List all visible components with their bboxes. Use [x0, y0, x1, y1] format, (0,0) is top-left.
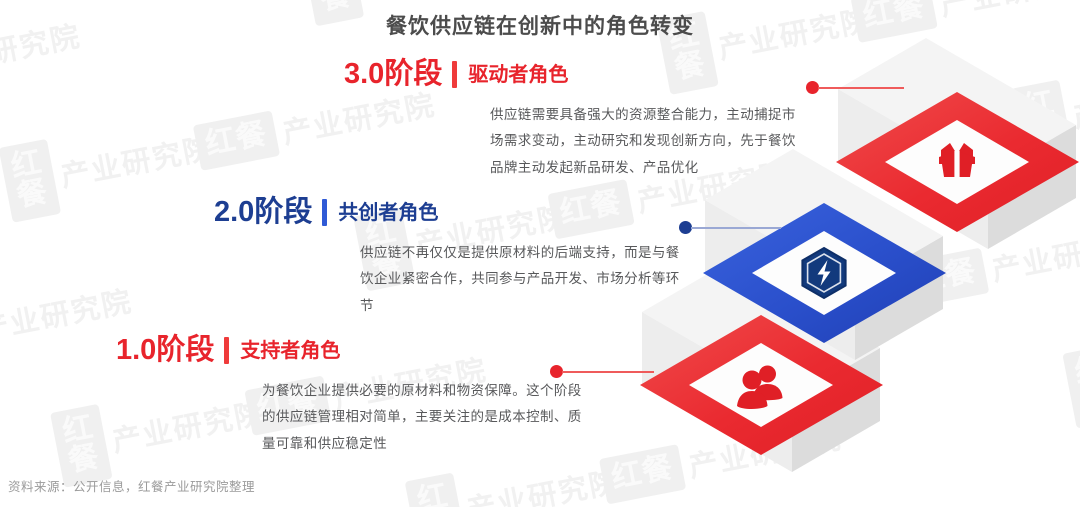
watermark-text: 产业研究院	[1069, 65, 1080, 136]
stage-2-role: 共创者角色	[338, 203, 438, 223]
infographic-canvas: 红餐 产业研究院 红餐 产业研究院 红餐 产业研究院 红餐 产业研究院 红餐 产…	[0, 0, 1080, 507]
connector-line	[818, 87, 904, 89]
stage-1-heading: 1.0阶段 支持者角色	[116, 336, 582, 365]
step2-diamond-outer	[703, 203, 946, 343]
watermark-tile: 红餐 产业研究院	[863, 48, 1080, 191]
watermark-badge: 红餐	[599, 444, 686, 504]
stage-3-heading: 3.0阶段 驱动者角色	[344, 60, 806, 89]
step3-left-face	[838, 89, 988, 249]
watermark-badge: 红餐	[1062, 344, 1080, 428]
stage-block-3: 3.0阶段 驱动者角色 供应链需要具备强大的资源整合能力，主动捕捉市场需求变动，…	[344, 60, 806, 181]
stage-3-role: 驱动者角色	[468, 65, 568, 85]
step3-top-face	[838, 38, 1076, 176]
watermark-badge: 红餐	[193, 110, 280, 170]
stage-3-divider-bar	[452, 61, 457, 88]
step1-diamond-inner	[689, 343, 833, 427]
watermark-tile: 红餐 产业研究院	[0, 107, 220, 250]
watermark-badge: 红餐	[50, 403, 113, 487]
stage-1-number: 1.0阶段	[116, 336, 214, 365]
step1-diamond-outer	[640, 315, 883, 455]
shield-bolt-icon	[802, 248, 845, 298]
watermark-badge: 红餐	[405, 472, 468, 507]
stage-1-divider-bar	[224, 337, 229, 364]
stage-2-divider-bar	[322, 199, 327, 226]
stage-block-2: 2.0阶段 共创者角色 供应链不再仅仅是提供原材料的后端支持，而是与餐饮企业紧密…	[214, 198, 682, 319]
step2-right-face	[855, 236, 943, 360]
step3-diamond-outer	[836, 92, 1079, 232]
connector-line	[691, 227, 781, 229]
watermark-text: 产业研究院	[988, 218, 1080, 289]
watermark-tile: 红餐 产业研究院	[944, 481, 1080, 507]
watermark-badge: 红餐	[0, 138, 61, 222]
gift-box-icon	[939, 143, 975, 177]
stage-3-number: 3.0阶段	[344, 60, 442, 89]
source-note: 资料来源：公开信息，红餐产业研究院整理	[8, 476, 255, 495]
step1-left-face	[642, 312, 792, 472]
step1-right-face	[792, 348, 880, 472]
step2-diamond-inner	[752, 231, 896, 315]
step2-left-face	[705, 200, 855, 360]
watermark-text: 产业研究院	[685, 415, 845, 486]
stage-2-heading: 2.0阶段 共创者角色	[214, 198, 682, 227]
watermark-tile: 红餐 产业研究院	[892, 216, 1080, 309]
stage-1-description: 为餐饮企业提供必要的原材料和物资保障。这个阶段的供应链管理相对简单，主要关注的是…	[262, 378, 582, 457]
stage-2-description: 供应链不再仅仅是提供原材料的后端支持，而是与餐饮企业紧密合作，共同参与产品开发、…	[360, 240, 682, 319]
watermark-badge: 红餐	[1011, 79, 1074, 163]
watermark-badge: 红餐	[708, 276, 771, 360]
step3-right-face	[988, 125, 1076, 249]
step3-diamond-inner	[885, 120, 1029, 204]
watermark-badge: 红餐	[902, 247, 989, 307]
page-title: 餐饮供应链在创新中的角色转变	[0, 10, 1080, 40]
stage-1-role: 支持者角色	[240, 341, 340, 361]
watermark-tile: 红餐 产业研究院	[915, 313, 1080, 456]
watermark-text: 产业研究院	[57, 124, 217, 195]
stage-block-1: 1.0阶段 支持者角色 为餐饮企业提供必要的原材料和物资保障。这个阶段的供应链管…	[116, 336, 582, 457]
stage-3-description: 供应链需要具备强大的资源整合能力，主动捕捉市场需求变动，主动研究和发现创新方向，…	[490, 102, 806, 181]
stage-2-number: 2.0阶段	[214, 198, 312, 227]
watermark-text: 产业研究院	[766, 261, 926, 332]
watermark-text: 产业研究院	[463, 458, 623, 507]
watermark-tile: 红餐 产业研究院	[589, 413, 845, 506]
watermark-text: 产业研究院	[1039, 483, 1080, 507]
users-icon	[737, 366, 783, 410]
